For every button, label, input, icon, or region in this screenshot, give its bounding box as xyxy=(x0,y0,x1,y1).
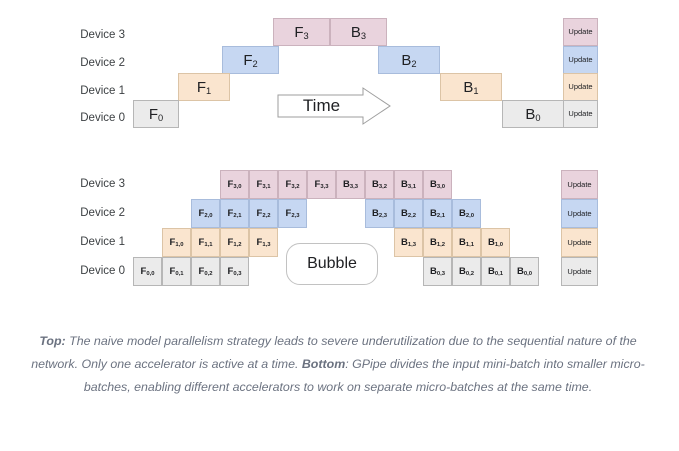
cell-b2-3: B2,3 xyxy=(365,199,394,228)
cell-f1-3: F1,3 xyxy=(249,228,278,257)
top-device-label-2: Device 2 xyxy=(45,58,125,70)
cell-b1-3: B1,3 xyxy=(394,228,423,257)
bottom-device-label-0: Device 0 xyxy=(45,266,125,278)
bottom-update-0: Update xyxy=(561,257,598,286)
cell-b2-0: B2,0 xyxy=(452,199,481,228)
cell-b3-3: B3,3 xyxy=(336,170,365,199)
cell-f0-1: F0,1 xyxy=(162,257,191,286)
top-block-b2: B2 xyxy=(378,46,440,74)
cell-b0-1: B0,1 xyxy=(481,257,510,286)
cell-b2-1: B2,1 xyxy=(423,199,452,228)
cell-f1-1: F1,1 xyxy=(191,228,220,257)
bottom-device-label-2: Device 2 xyxy=(45,208,125,220)
caption-bottom-prefix: Bottom xyxy=(302,357,345,371)
top-block-f1: F1 xyxy=(178,73,230,101)
time-arrow-label: Time xyxy=(277,87,392,125)
cell-f2-3: F2,3 xyxy=(278,199,307,228)
cell-f1-2: F1,2 xyxy=(220,228,249,257)
cell-f2-2: F2,2 xyxy=(249,199,278,228)
bottom-update-2: Update xyxy=(561,199,598,228)
cell-b1-0: B1,0 xyxy=(481,228,510,257)
top-block-b0: B0 xyxy=(502,100,564,128)
top-block-f2: F2 xyxy=(222,46,279,74)
top-update-1: Update xyxy=(563,73,598,101)
cell-b2-2: B2,2 xyxy=(394,199,423,228)
bottom-device-label-1: Device 1 xyxy=(45,237,125,249)
time-arrow: Time xyxy=(277,87,392,125)
bottom-update-1: Update xyxy=(561,228,598,257)
cell-b3-0: B3,0 xyxy=(423,170,452,199)
figure-caption: Top: The naive model parallelism strateg… xyxy=(28,330,648,399)
top-block-f3: F3 xyxy=(273,18,330,46)
top-block-b1: B1 xyxy=(440,73,502,101)
pipeline-parallelism-figure: Device 3 Device 2 Device 1 Device 0 F3 B… xyxy=(0,0,679,451)
cell-b3-1: B3,1 xyxy=(394,170,423,199)
top-device-label-0: Device 0 xyxy=(45,113,125,125)
top-device-label-3: Device 3 xyxy=(45,30,125,42)
top-block-f0: F0 xyxy=(133,100,179,128)
cell-b0-2: B0,2 xyxy=(452,257,481,286)
cell-f2-0: F2,0 xyxy=(191,199,220,228)
caption-top-prefix: Top: xyxy=(39,334,65,348)
top-block-b3: B3 xyxy=(330,18,387,46)
cell-f3-1: F3,1 xyxy=(249,170,278,199)
cell-b3-2: B3,2 xyxy=(365,170,394,199)
cell-f3-2: F3,2 xyxy=(278,170,307,199)
cell-b0-3: B0,3 xyxy=(423,257,452,286)
cell-f2-1: F2,1 xyxy=(220,199,249,228)
cell-b1-2: B1,2 xyxy=(423,228,452,257)
top-device-label-1: Device 1 xyxy=(45,86,125,98)
cell-b1-1: B1,1 xyxy=(452,228,481,257)
cell-f3-3: F3,3 xyxy=(307,170,336,199)
cell-f1-0: F1,0 xyxy=(162,228,191,257)
bottom-device-label-3: Device 3 xyxy=(45,179,125,191)
top-update-0: Update xyxy=(563,100,598,128)
cell-f0-2: F0,2 xyxy=(191,257,220,286)
cell-f0-3: F0,3 xyxy=(220,257,249,286)
top-update-3: Update xyxy=(563,18,598,46)
cell-f3-0: F3,0 xyxy=(220,170,249,199)
top-update-2: Update xyxy=(563,46,598,74)
bottom-update-3: Update xyxy=(561,170,598,199)
bubble-callout: Bubble xyxy=(286,243,378,285)
cell-f0-0: F0,0 xyxy=(133,257,162,286)
cell-b0-0: B0,0 xyxy=(510,257,539,286)
